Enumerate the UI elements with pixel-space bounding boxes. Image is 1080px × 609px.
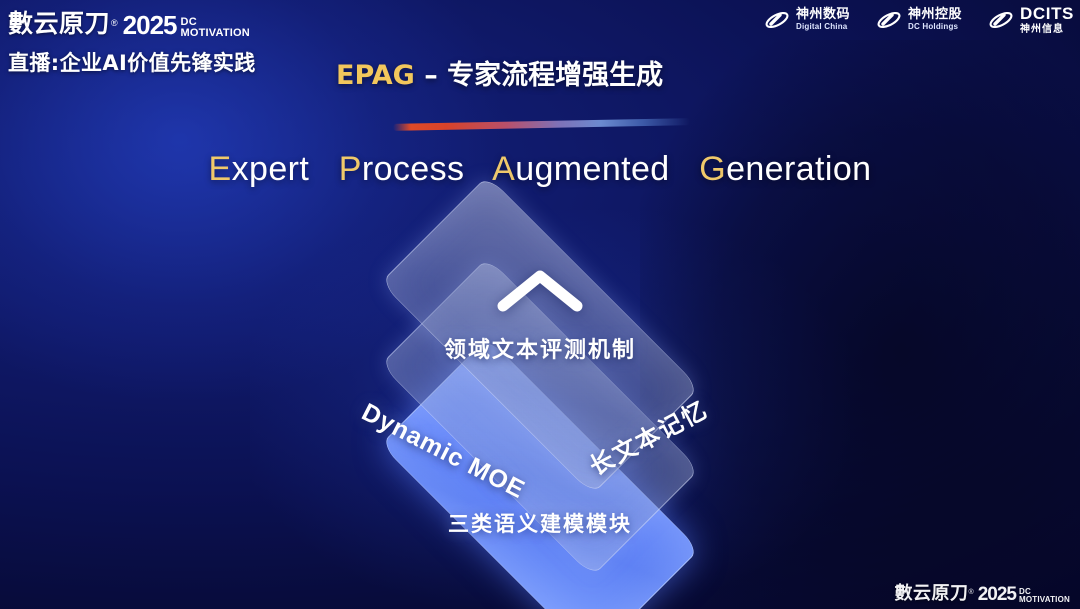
partner-name-en: DC Holdings xyxy=(908,23,962,32)
header-brand-block: 數云原刀 ® 2025 DC MOTIVATION 直播:企业AI价值先锋实践 xyxy=(8,4,338,77)
page-subtitle: Expert Process Augmented Generation xyxy=(0,150,1080,189)
title-separator: – xyxy=(415,60,447,91)
subtitle-space xyxy=(474,150,484,188)
chevron-up-icon xyxy=(497,268,583,312)
partner-logo-dc-holdings: 神州控股 DC Holdings xyxy=(876,8,962,32)
gradient-divider xyxy=(393,118,690,131)
layer-plate-bottom xyxy=(380,337,699,609)
subtitle-word-augmented: Augmented xyxy=(492,150,670,188)
background-vignette-right xyxy=(640,40,1080,609)
subtitle-rest: eneration xyxy=(726,150,871,188)
layer-label-long-text-memory: 长文本记忆 xyxy=(582,390,713,482)
brand-registered-mark: ® xyxy=(111,18,118,28)
layer-plate-middle xyxy=(380,257,699,576)
subtitle-space xyxy=(319,150,329,188)
layer-label-bottom: 三类语义建模模块 xyxy=(0,508,1080,538)
subtitle-cap: A xyxy=(492,150,515,188)
brand-logo: 數云原刀 ® 2025 DC MOTIVATION xyxy=(8,4,338,40)
subtitle-rest: xpert xyxy=(232,150,310,188)
subtitle-rest: ugmented xyxy=(515,150,669,188)
subtitle-word-process: Process xyxy=(339,150,465,188)
subtitle-cap: P xyxy=(339,150,362,188)
watermark-dc-motivation: DC MOTIVATION xyxy=(1019,588,1070,604)
partner-name-cn: 神州信息 xyxy=(1020,24,1074,35)
subtitle-word-generation: Generation xyxy=(699,150,871,188)
brand-year: 2025 xyxy=(123,10,177,41)
footer-watermark: 數云原刀 ® 2025 DC MOTIVATION xyxy=(895,579,1070,605)
subtitle-space xyxy=(679,150,689,188)
layer-plate-top xyxy=(380,175,699,494)
watermark-registered-mark: ® xyxy=(969,589,974,596)
partner-name-en: Digital China xyxy=(796,23,850,32)
subtitle-cap: G xyxy=(699,150,726,188)
watermark-motivation-text: MOTIVATION xyxy=(1019,596,1070,604)
swirl-logo-icon xyxy=(876,8,902,32)
partner-name-block: DCITS 神州信息 xyxy=(1020,5,1074,35)
partner-name-block: 神州数码 Digital China xyxy=(796,8,850,31)
page-title: EPAG – 专家流程增强生成 xyxy=(336,53,766,92)
swirl-logo-icon xyxy=(988,8,1014,32)
subtitle-word-expert: Expert xyxy=(209,150,310,188)
title-chinese: 专家流程增强生成 xyxy=(447,60,663,91)
live-session-title: 直播:企业AI价值先锋实践 xyxy=(8,47,338,77)
partner-logo-bar: 神州数码 Digital China 神州控股 DC Holdings xyxy=(764,5,1074,35)
partner-logo-digital-china: 神州数码 Digital China xyxy=(764,8,850,32)
partner-name-cn: 神州控股 xyxy=(908,8,962,22)
brand-name-cn: 數云原刀 xyxy=(8,4,110,40)
partner-name-cn: 神州数码 xyxy=(796,8,850,22)
brand-motivation-text: MOTIVATION xyxy=(181,28,250,39)
partner-name-block: 神州控股 DC Holdings xyxy=(908,8,962,31)
watermark-year: 2025 xyxy=(978,584,1016,606)
watermark-brand-cn: 數云原刀 xyxy=(895,579,969,605)
slide-canvas: 數云原刀 ® 2025 DC MOTIVATION 直播:企业AI价值先锋实践 … xyxy=(0,0,1080,609)
subtitle-cap: E xyxy=(209,150,232,188)
swirl-logo-icon xyxy=(764,8,790,32)
background-glow-center xyxy=(250,210,850,609)
partner-logo-dcits: DCITS 神州信息 xyxy=(988,5,1074,35)
brand-dc-motivation: DC MOTIVATION xyxy=(181,17,250,39)
layer-label-dynamic-moe: Dynamic MOE xyxy=(357,398,530,505)
title-acronym: EPAG xyxy=(336,60,415,91)
partner-name-en: DCITS xyxy=(1020,5,1074,24)
layer-label-top: 领域文本评测机制 xyxy=(0,332,1080,364)
subtitle-rest: rocess xyxy=(362,150,465,188)
